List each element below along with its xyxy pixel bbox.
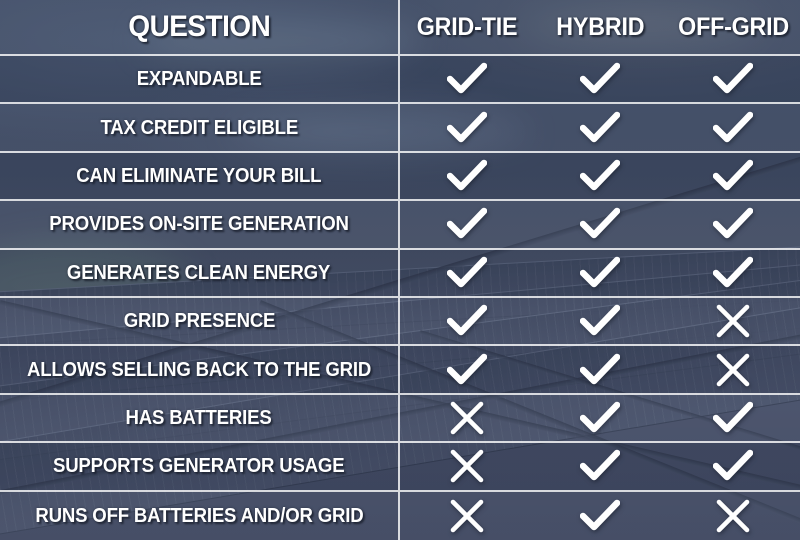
cross-icon — [715, 352, 751, 388]
cell-off-grid — [667, 56, 800, 102]
check-icon — [713, 62, 753, 96]
check-icon — [580, 353, 620, 387]
header-cell-off-grid: OFF-GRID — [667, 0, 800, 54]
row-answer-cells — [400, 201, 800, 247]
row-question-cell: SUPPORTS GENERATOR USAGE — [0, 443, 400, 489]
cell-hybrid — [533, 153, 666, 199]
row-question-label: TAX CREDIT ELIGIBLE — [100, 118, 298, 138]
cell-off-grid — [667, 201, 800, 247]
check-icon — [447, 159, 487, 193]
check-icon — [580, 304, 620, 338]
check-icon — [580, 401, 620, 435]
row-answer-cells — [400, 346, 800, 392]
table-row: EXPANDABLE — [0, 56, 800, 104]
row-answer-cells — [400, 395, 800, 441]
cell-off-grid — [667, 250, 800, 296]
check-icon — [713, 449, 753, 483]
feature-comparison-table: QUESTION GRID-TIE HYBRID OFF-GRID EXPAND… — [0, 0, 800, 540]
row-question-label: PROVIDES ON-SITE GENERATION — [49, 214, 349, 234]
cell-off-grid — [667, 395, 800, 441]
cell-grid-tie — [400, 201, 533, 247]
row-question-label: HAS BATTERIES — [126, 408, 272, 428]
row-question-cell: TAX CREDIT ELIGIBLE — [0, 104, 400, 150]
check-icon — [447, 256, 487, 290]
table-row: CAN ELIMINATE YOUR BILL — [0, 153, 800, 201]
check-icon — [713, 111, 753, 145]
cross-icon — [449, 498, 485, 534]
cell-grid-tie — [400, 492, 533, 540]
cell-grid-tie — [400, 443, 533, 489]
check-icon — [580, 207, 620, 241]
cell-hybrid — [533, 346, 666, 392]
cell-grid-tie — [400, 298, 533, 344]
comparison-chart: QUESTION GRID-TIE HYBRID OFF-GRID EXPAND… — [0, 0, 800, 540]
cell-off-grid — [667, 298, 800, 344]
row-question-cell: ALLOWS SELLING BACK TO THE GRID — [0, 346, 400, 392]
table-header-row: QUESTION GRID-TIE HYBRID OFF-GRID — [0, 0, 800, 56]
check-icon — [447, 304, 487, 338]
cell-grid-tie — [400, 104, 533, 150]
check-icon — [713, 159, 753, 193]
row-answer-cells — [400, 298, 800, 344]
header-cell-grid-tie: GRID-TIE — [400, 0, 533, 54]
cell-hybrid — [533, 395, 666, 441]
cell-grid-tie — [400, 250, 533, 296]
check-icon — [580, 62, 620, 96]
cell-grid-tie — [400, 153, 533, 199]
row-question-cell: GRID PRESENCE — [0, 298, 400, 344]
check-icon — [580, 449, 620, 483]
row-question-cell: CAN ELIMINATE YOUR BILL — [0, 153, 400, 199]
check-icon — [447, 353, 487, 387]
check-icon — [447, 111, 487, 145]
check-icon — [447, 207, 487, 241]
cell-off-grid — [667, 104, 800, 150]
cell-grid-tie — [400, 395, 533, 441]
cell-hybrid — [533, 104, 666, 150]
row-question-cell: EXPANDABLE — [0, 56, 400, 102]
check-icon — [580, 111, 620, 145]
cell-hybrid — [533, 201, 666, 247]
row-answer-cells — [400, 104, 800, 150]
header-answer-cells: GRID-TIE HYBRID OFF-GRID — [400, 0, 800, 54]
row-question-cell: RUNS OFF BATTERIES AND/OR GRID — [0, 492, 400, 540]
row-answer-cells — [400, 492, 800, 540]
cell-off-grid — [667, 443, 800, 489]
row-question-label: GENERATES CLEAN ENERGY — [67, 263, 330, 283]
row-question-label: CAN ELIMINATE YOUR BILL — [76, 166, 321, 186]
cell-hybrid — [533, 298, 666, 344]
cross-icon — [449, 448, 485, 484]
row-question-label: ALLOWS SELLING BACK TO THE GRID — [27, 360, 371, 380]
cell-grid-tie — [400, 56, 533, 102]
row-answer-cells — [400, 443, 800, 489]
cell-grid-tie — [400, 346, 533, 392]
row-question-label: GRID PRESENCE — [123, 311, 275, 331]
table-row: HAS BATTERIES — [0, 395, 800, 443]
table-row: SUPPORTS GENERATOR USAGE — [0, 443, 800, 491]
cell-hybrid — [533, 443, 666, 489]
row-question-label: RUNS OFF BATTERIES AND/OR GRID — [35, 506, 363, 526]
check-icon — [713, 256, 753, 290]
cross-icon — [449, 400, 485, 436]
row-question-cell: GENERATES CLEAN ENERGY — [0, 250, 400, 296]
check-icon — [713, 401, 753, 435]
header-cell-hybrid: HYBRID — [533, 0, 666, 54]
cell-off-grid — [667, 153, 800, 199]
check-icon — [713, 207, 753, 241]
table-row: GRID PRESENCE — [0, 298, 800, 346]
table-row: PROVIDES ON-SITE GENERATION — [0, 201, 800, 249]
table-row: GENERATES CLEAN ENERGY — [0, 250, 800, 298]
header-cell-question: QUESTION — [0, 0, 400, 54]
table-row: TAX CREDIT ELIGIBLE — [0, 104, 800, 152]
cell-hybrid — [533, 56, 666, 102]
check-icon — [447, 62, 487, 96]
table-row: RUNS OFF BATTERIES AND/OR GRID — [0, 492, 800, 540]
cell-off-grid — [667, 492, 800, 540]
table-row: ALLOWS SELLING BACK TO THE GRID — [0, 346, 800, 394]
check-icon — [580, 256, 620, 290]
cross-icon — [715, 303, 751, 339]
cell-hybrid — [533, 250, 666, 296]
column-header-hybrid: HYBRID — [556, 15, 644, 40]
check-icon — [580, 499, 620, 533]
check-icon — [580, 159, 620, 193]
cell-hybrid — [533, 492, 666, 540]
column-header-off-grid: OFF-GRID — [678, 15, 789, 40]
row-answer-cells — [400, 56, 800, 102]
cell-off-grid — [667, 346, 800, 392]
row-question-cell: HAS BATTERIES — [0, 395, 400, 441]
cross-icon — [715, 498, 751, 534]
column-header-grid-tie: GRID-TIE — [416, 15, 517, 40]
row-answer-cells — [400, 153, 800, 199]
row-answer-cells — [400, 250, 800, 296]
row-question-label: SUPPORTS GENERATOR USAGE — [53, 456, 344, 476]
column-header-question: QUESTION — [128, 12, 270, 42]
row-question-label: EXPANDABLE — [137, 69, 262, 89]
row-question-cell: PROVIDES ON-SITE GENERATION — [0, 201, 400, 247]
